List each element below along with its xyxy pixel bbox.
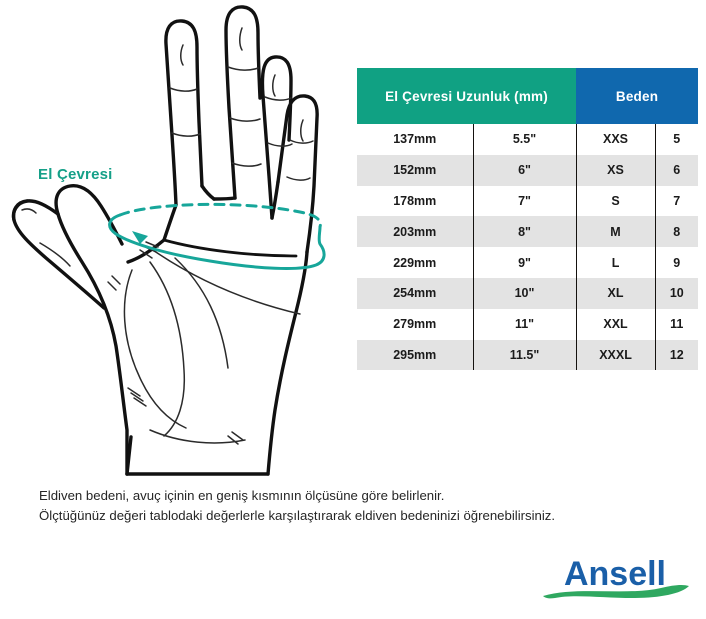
table-header-row: El Çevresi Uzunluk (mm) Beden xyxy=(357,68,698,124)
cell-circumference-inch: 5.5" xyxy=(473,124,576,155)
caption-line-1: Eldiven bedeni, avuç içinin en geniş kıs… xyxy=(39,486,679,506)
cell-circumference-mm: 203mm xyxy=(357,216,473,247)
cell-circumference-mm: 178mm xyxy=(357,186,473,217)
cell-circumference-inch: 10" xyxy=(473,278,576,309)
table-row: 254mm10"XL10 xyxy=(357,278,698,309)
cell-size-number: 7 xyxy=(655,186,698,217)
cell-circumference-inch: 7" xyxy=(473,186,576,217)
cell-size-letter: L xyxy=(576,247,655,278)
cell-size-number: 6 xyxy=(655,155,698,186)
table-row: 152mm6"XS6 xyxy=(357,155,698,186)
cell-circumference-mm: 137mm xyxy=(357,124,473,155)
cell-size-number: 11 xyxy=(655,309,698,340)
header-size: Beden xyxy=(576,68,698,124)
cell-size-letter: XS xyxy=(576,155,655,186)
cell-circumference-mm: 295mm xyxy=(357,340,473,371)
hand-circumference-ellipse xyxy=(110,204,324,268)
cell-size-letter: M xyxy=(576,216,655,247)
table-row: 229mm9"L9 xyxy=(357,247,698,278)
header-hand-circumference: El Çevresi Uzunluk (mm) xyxy=(357,68,576,124)
cell-size-letter: XL xyxy=(576,278,655,309)
cell-size-number: 12 xyxy=(655,340,698,371)
cell-circumference-inch: 11.5" xyxy=(473,340,576,371)
cell-circumference-inch: 9" xyxy=(473,247,576,278)
cell-size-letter: XXS xyxy=(576,124,655,155)
cell-circumference-inch: 11" xyxy=(473,309,576,340)
cell-circumference-inch: 6" xyxy=(473,155,576,186)
cell-circumference-mm: 254mm xyxy=(357,278,473,309)
table-row: 178mm7"S7 xyxy=(357,186,698,217)
ansell-wordmark: Ansell xyxy=(564,555,666,593)
table-header: El Çevresi Uzunluk (mm) Beden xyxy=(357,68,698,124)
cell-circumference-inch: 8" xyxy=(473,216,576,247)
table-body: 137mm5.5"XXS5152mm6"XS6178mm7"S7203mm8"M… xyxy=(357,124,698,370)
cell-size-letter: XXXL xyxy=(576,340,655,371)
table-row: 295mm11.5"XXXL12 xyxy=(357,340,698,371)
cell-circumference-mm: 152mm xyxy=(357,155,473,186)
table-row: 279mm11"XXL11 xyxy=(357,309,698,340)
cell-size-number: 9 xyxy=(655,247,698,278)
cell-size-number: 8 xyxy=(655,216,698,247)
instructions-caption: Eldiven bedeni, avuç içinin en geniş kıs… xyxy=(39,486,679,526)
table-row: 203mm8"M8 xyxy=(357,216,698,247)
cell-size-number: 5 xyxy=(655,124,698,155)
table-row: 137mm5.5"XXS5 xyxy=(357,124,698,155)
hand-circumference-label: El Çevresi xyxy=(38,166,113,183)
caption-line-2: Ölçtüğünüz değeri tablodaki değerlerle k… xyxy=(39,506,679,526)
cell-size-letter: S xyxy=(576,186,655,217)
cell-circumference-mm: 229mm xyxy=(357,247,473,278)
cell-circumference-mm: 279mm xyxy=(357,309,473,340)
cell-size-letter: XXL xyxy=(576,309,655,340)
hand-illustration xyxy=(0,0,350,480)
cell-size-number: 10 xyxy=(655,278,698,309)
ansell-logo: Ansell xyxy=(533,552,697,604)
glove-size-table: El Çevresi Uzunluk (mm) Beden 137mm5.5"X… xyxy=(357,68,698,370)
